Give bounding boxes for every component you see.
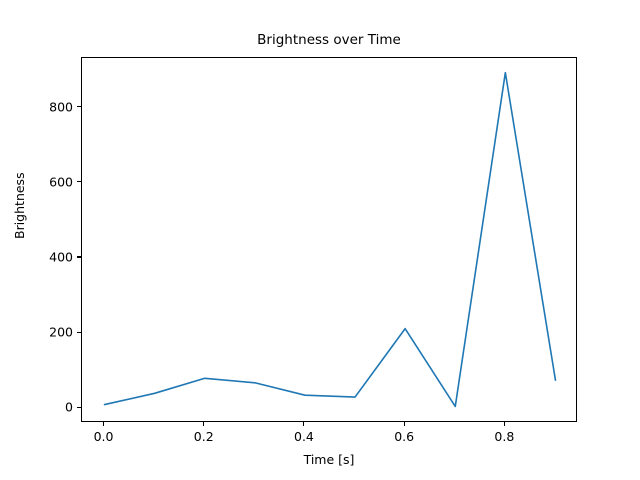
y-tick-label: 800 [49,99,73,114]
y-tick-label: 600 [49,174,73,189]
chart-title: Brightness over Time [81,32,577,48]
brightness-line [105,73,556,407]
plot-area [81,57,577,422]
line-chart-svg [82,58,578,423]
x-tick-label: 0.2 [194,429,214,444]
x-tick-mark [404,422,405,426]
y-tick-mark [77,407,81,408]
x-tick-mark [303,422,304,426]
x-tick-label: 0.0 [94,429,114,444]
y-axis-label: Brightness [12,172,27,239]
y-tick-mark [77,256,81,257]
x-tick-label: 0.6 [394,429,414,444]
y-tick-label: 200 [49,325,73,340]
x-tick-mark [203,422,204,426]
x-tick-mark [103,422,104,426]
x-axis-label: Time [s] [81,452,577,467]
matplotlib-figure: Brightness over Time Brightness Time [s]… [0,0,640,480]
y-tick-mark [77,332,81,333]
x-tick-label: 0.8 [494,429,514,444]
x-tick-label: 0.4 [294,429,314,444]
y-tick-label: 400 [49,249,73,264]
y-tick-mark [77,181,81,182]
y-tick-label: 0 [65,400,73,415]
x-tick-mark [504,422,505,426]
y-tick-mark [77,106,81,107]
